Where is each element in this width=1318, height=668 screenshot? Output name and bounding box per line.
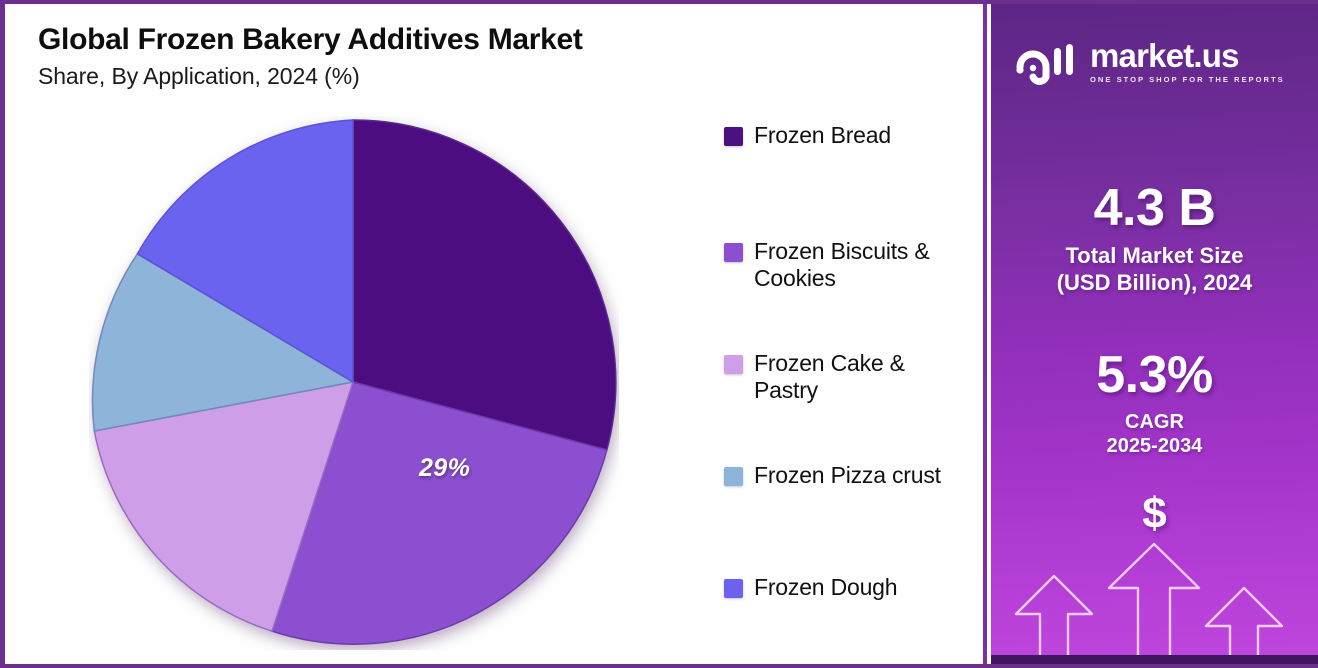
chart-panel: Global Frozen Bakery Additives Market Sh…	[5, 4, 987, 664]
brand-panel: market.us ONE STOP SHOP FOR THE REPORTS …	[991, 4, 1318, 664]
cagr-value: 5.3%	[991, 349, 1318, 401]
arrows-svg	[991, 484, 1318, 664]
legend-item-label: Frozen Dough	[754, 574, 897, 601]
legend-item-frozen-pizza-crust[interactable]: Frozen Pizza crust	[724, 462, 941, 489]
stat-cagr: 5.3% CAGR 2025-2034	[991, 349, 1318, 459]
legend-swatch-icon	[724, 467, 743, 486]
legend-swatch-icon	[724, 355, 743, 374]
legend-item-frozen-cake-pastry[interactable]: Frozen Cake & Pastry	[724, 350, 905, 403]
page-title: Global Frozen Bakery Additives Market	[38, 22, 838, 57]
legend-swatch-icon	[724, 127, 743, 146]
legend-item-label: Frozen Pizza crust	[754, 462, 941, 489]
arrow-up-right-icon	[1206, 588, 1282, 664]
arrow-up-center-icon	[1109, 544, 1199, 664]
legend-swatch-icon	[724, 243, 743, 262]
legend-item-frozen-biscuits-cookies[interactable]: Frozen Biscuits & Cookies	[724, 238, 930, 291]
title-block: Global Frozen Bakery Additives Market Sh…	[38, 22, 838, 90]
market-size-caption: Total Market Size (USD Billion), 2024	[991, 243, 1318, 297]
legend-item-frozen-dough[interactable]: Frozen Dough	[724, 574, 897, 601]
arrow-up-left-icon	[1016, 576, 1092, 664]
market-size-value: 4.3 B	[991, 182, 1318, 234]
pie-slice-group	[93, 120, 616, 644]
legend-item-frozen-bread[interactable]: Frozen Bread	[724, 122, 891, 149]
infographic-root: Global Frozen Bakery Additives Market Sh…	[0, 0, 1318, 668]
legend-item-label: Frozen Cake & Pastry	[754, 350, 905, 403]
panel-floor	[991, 655, 1318, 664]
legend-swatch-icon	[724, 579, 743, 598]
legend-item-label: Frozen Biscuits & Cookies	[754, 238, 930, 291]
pie-chart-svg	[89, 116, 619, 650]
cagr-caption: CAGR 2025-2034	[991, 410, 1318, 459]
logo-wordmark: market.us	[1090, 39, 1285, 72]
page-subtitle: Share, By Application, 2024 (%)	[38, 63, 838, 90]
growth-arrows-graphic: $	[991, 484, 1318, 664]
pie-chart: 29%	[89, 116, 619, 650]
stat-market-size: 4.3 B Total Market Size (USD Billion), 2…	[991, 182, 1318, 297]
legend-item-label: Frozen Bread	[754, 122, 891, 149]
logo-text-wrap: market.us ONE STOP SHOP FOR THE REPORTS	[1090, 39, 1285, 84]
brand-logo[interactable]: market.us ONE STOP SHOP FOR THE REPORTS	[1013, 32, 1301, 90]
logo-tagline: ONE STOP SHOP FOR THE REPORTS	[1090, 75, 1285, 84]
market-us-logo-icon	[1013, 37, 1079, 85]
